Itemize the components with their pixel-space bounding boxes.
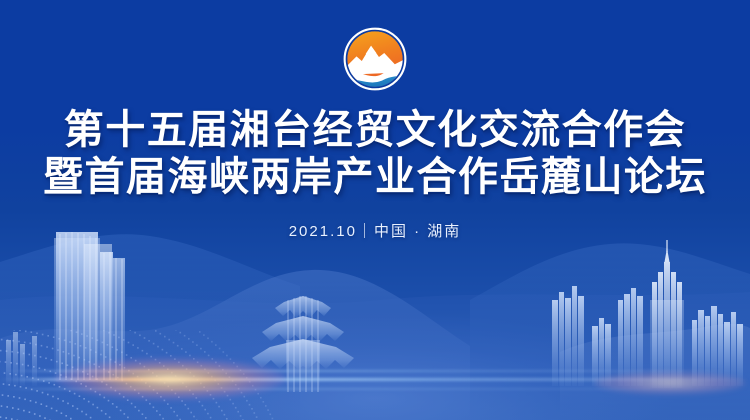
twin-tower-silhouette (54, 232, 125, 382)
event-date-location: 2021.10｜中国 · 湖南 (0, 220, 750, 241)
page-title: 第十五届湘台经贸文化交流合作会 暨首届海峡两岸产业合作岳麓山论坛 (0, 106, 750, 200)
warm-lens-flare (55, 358, 285, 400)
secondary-lens-flare (595, 372, 745, 394)
logo-container: 湖南台办徽标 (0, 0, 750, 92)
title-line-2: 暨首届海峡两岸产业合作岳麓山论坛 (0, 153, 750, 200)
right-skyline-buildings (552, 240, 743, 388)
conference-banner: 湖南台办徽标 (0, 0, 750, 420)
spire-tower (650, 240, 684, 388)
mountain-sun-water-circle-logo: 湖南台办徽标 (342, 26, 408, 92)
title-line-1: 第十五届湘台经贸文化交流合作会 (0, 106, 750, 153)
